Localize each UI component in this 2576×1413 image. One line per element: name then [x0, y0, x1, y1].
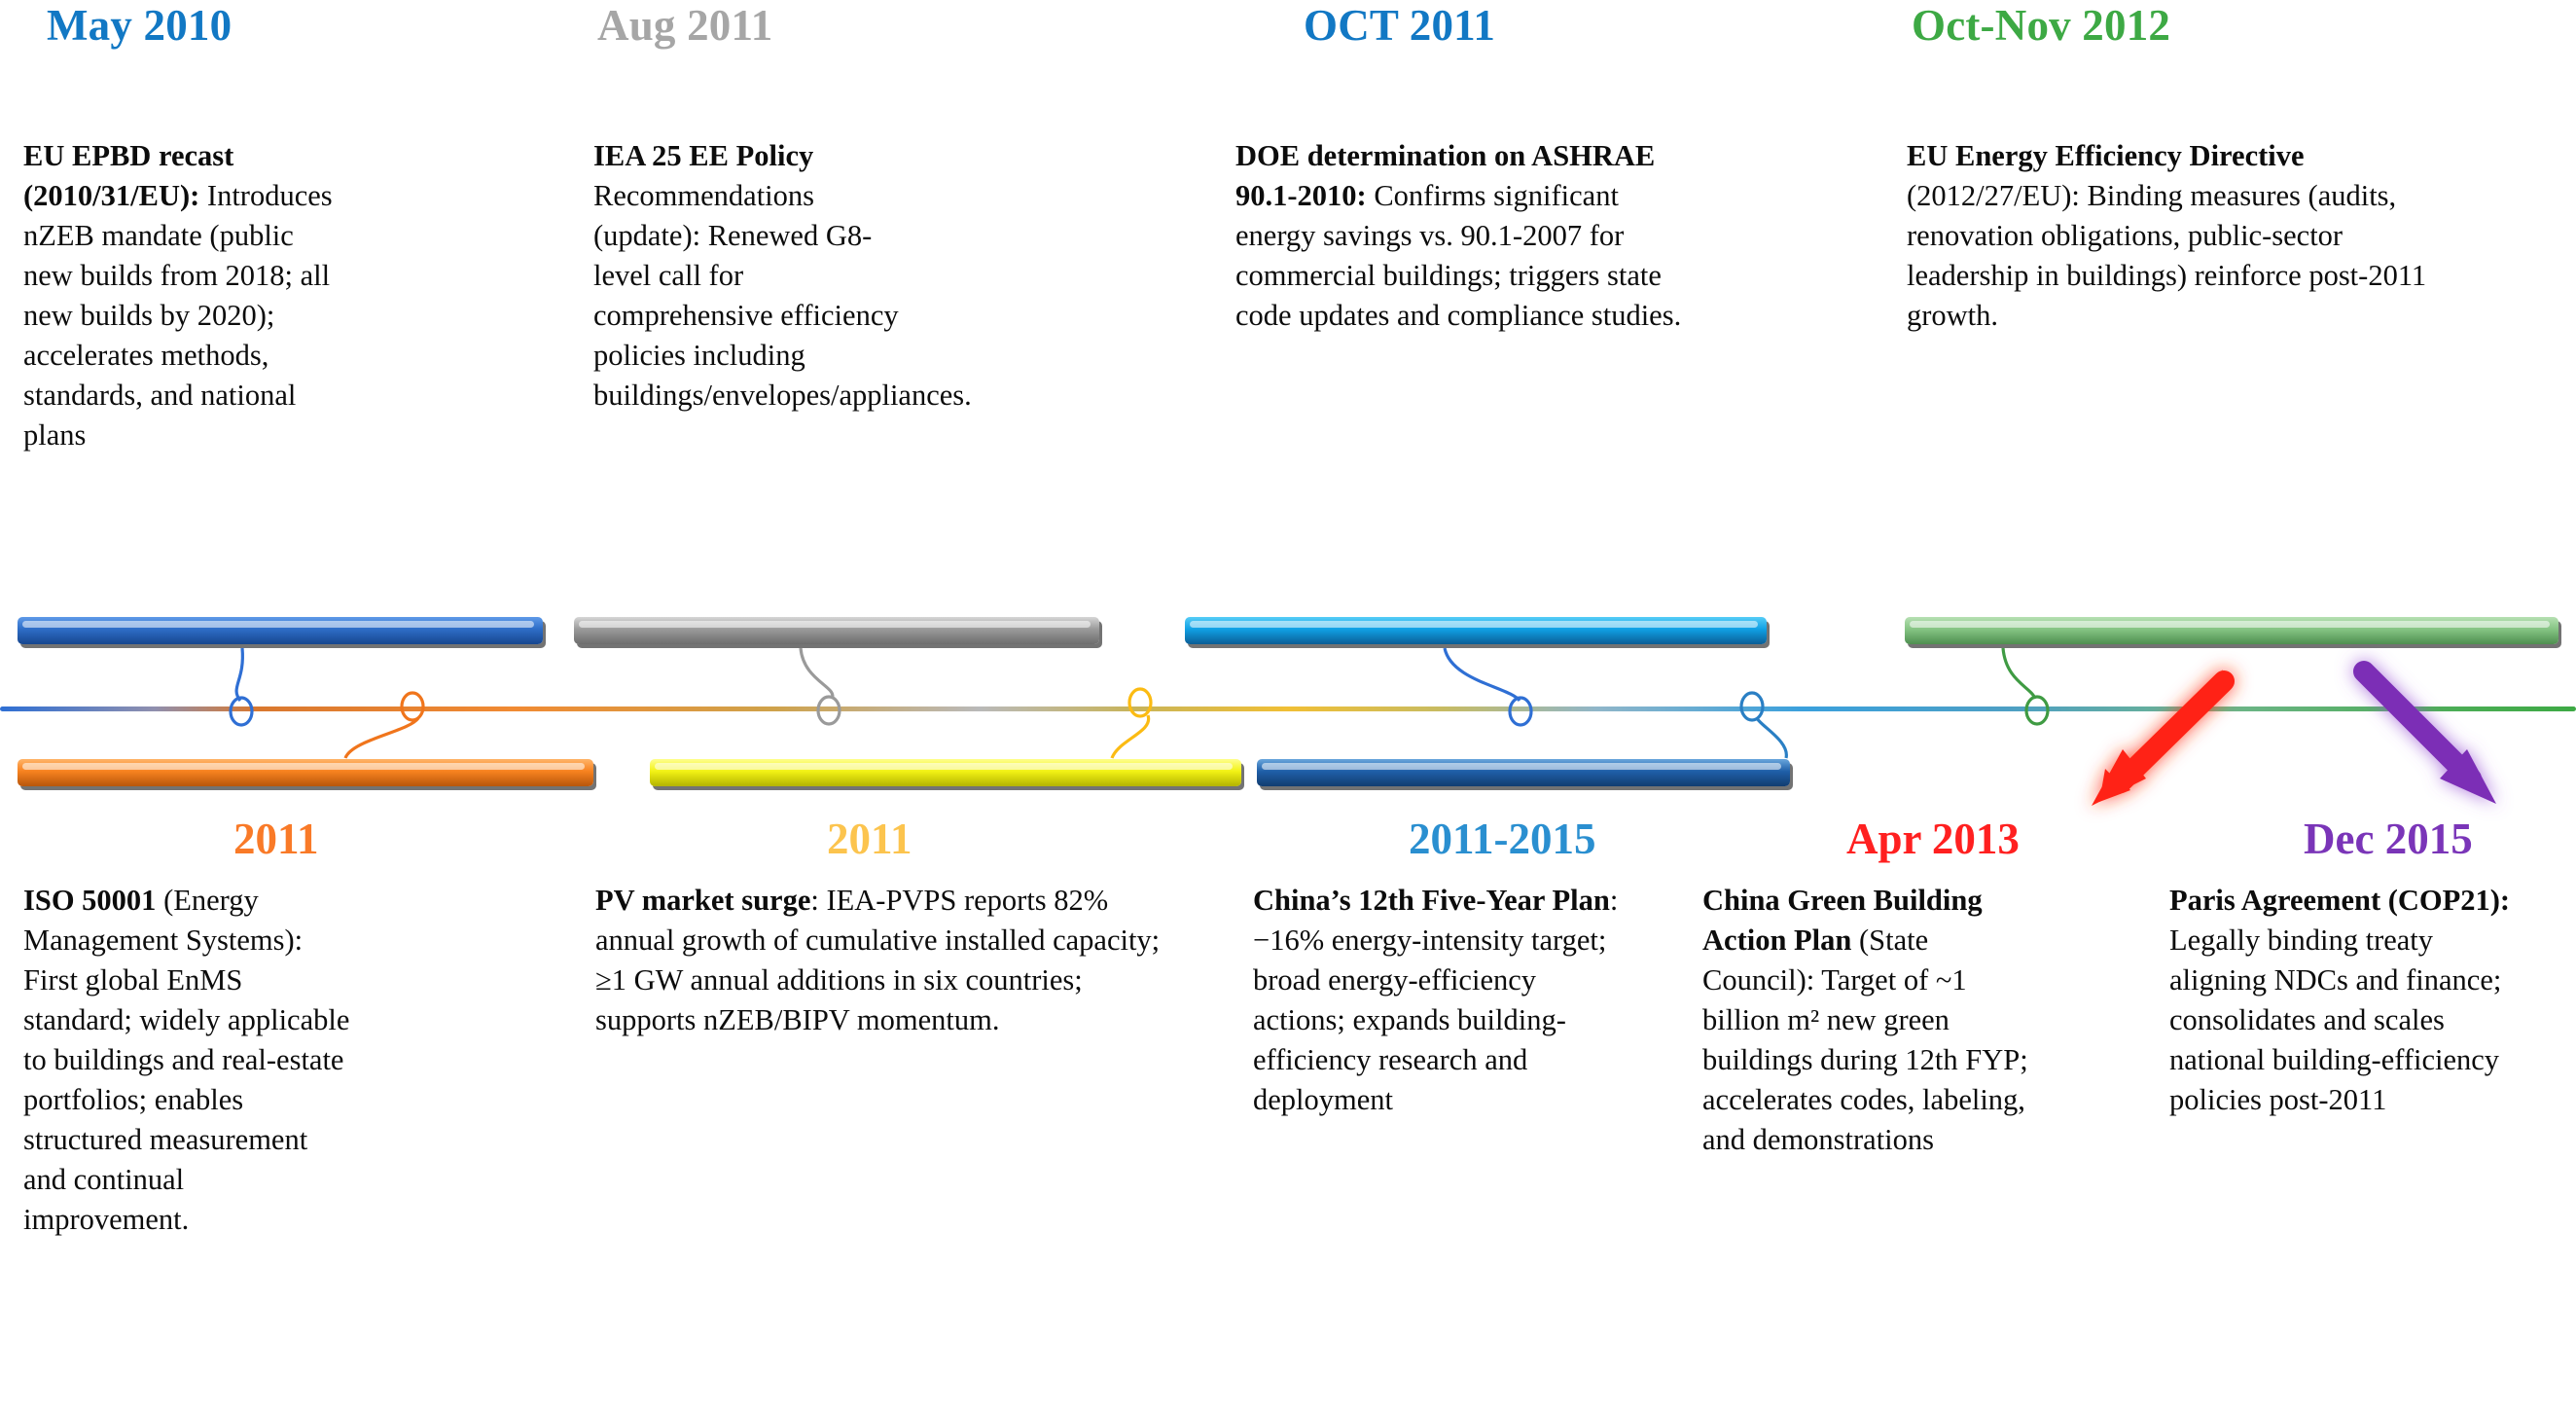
- date-label-2011-2015: 2011-2015: [1409, 817, 1596, 861]
- bar-highlight: [579, 621, 1091, 628]
- milestone-bar-aug-2011[interactable]: [574, 617, 1099, 644]
- description-body: (Energy Management Systems): First globa…: [23, 884, 349, 1236]
- description-title: Paris Agreement (COP21):: [2169, 884, 2510, 917]
- red-arrow: [2092, 670, 2224, 806]
- bar-highlight: [22, 763, 585, 770]
- description-eu-epbd-recast: EU EPBD recast (2010/31/EU): Introduces …: [23, 136, 337, 455]
- description-title: PV market surge: [595, 884, 810, 917]
- connector-may-2010: [231, 648, 252, 725]
- bar-highlight: [22, 621, 534, 628]
- connector-oct-nov-2012: [2003, 648, 2048, 724]
- description-eu-energy-efficiency-directive: EU Energy Efficiency Directive (2012/27/…: [1907, 136, 2451, 336]
- connector-oct-2011: [1445, 648, 1531, 725]
- description-body: : −16% energy-intensity target; broad en…: [1253, 884, 1618, 1116]
- date-label-2011-iso: 2011: [233, 817, 319, 861]
- description-paris-agreement: Paris Agreement (COP21): Legally binding…: [2169, 881, 2527, 1120]
- date-label-apr-2013: Apr 2013: [1846, 817, 2020, 861]
- description-body: Recommendations (update): Renewed G8-lev…: [593, 179, 972, 412]
- milestone-bar-oct-2011[interactable]: [1185, 617, 1767, 644]
- date-label-dec-2015: Dec 2015: [2304, 817, 2473, 861]
- description-pv-market-surge: PV market surge: IEA-PVPS reports 82% an…: [595, 881, 1163, 1040]
- description-title: China’s 12th Five-Year Plan: [1253, 884, 1610, 917]
- milestone-bar-iso-50001[interactable]: [18, 759, 593, 786]
- description-body: Legally binding treaty aligning NDCs and…: [2169, 924, 2501, 1116]
- date-heading-may-2010: May 2010: [47, 4, 232, 48]
- milestone-bar-pv-market-surge[interactable]: [650, 759, 1241, 786]
- description-title: EU Energy Efficiency Directive: [1907, 139, 2305, 172]
- description-china-green-building-action-plan: China Green Building Action Plan (State …: [1702, 881, 2045, 1160]
- description-body: Introduces nZEB mandate (public new buil…: [23, 179, 333, 452]
- description-doe-ashrae: DOE determination on ASHRAE 90.1-2010: C…: [1235, 136, 1685, 336]
- date-heading-oct-2011: OCT 2011: [1304, 4, 1495, 48]
- connector-china-12th-fyp: [1741, 693, 1786, 758]
- timeline-axis: [0, 706, 2576, 711]
- description-china-12th-fyp: China’s 12th Five-Year Plan: −16% energy…: [1253, 881, 1621, 1120]
- milestone-bar-china-12th-fyp[interactable]: [1257, 759, 1790, 786]
- bar-highlight: [1190, 621, 1758, 628]
- milestone-bar-may-2010[interactable]: [18, 617, 543, 644]
- bar-highlight: [1262, 763, 1781, 770]
- bar-highlight: [655, 763, 1233, 770]
- milestone-bar-oct-nov-2012[interactable]: [1905, 617, 2558, 644]
- bar-highlight: [1910, 621, 2550, 628]
- description-iea-25-ee-policy: IEA 25 EE Policy Recommendations (update…: [593, 136, 907, 416]
- connector-aug-2011: [801, 648, 840, 724]
- timeline-diagram: May 2010 Aug 2011 OCT 2011 Oct-Nov 2012 …: [0, 0, 2576, 1413]
- date-heading-oct-nov-2012: Oct-Nov 2012: [1912, 4, 2170, 48]
- description-body: (State Council): Target of ~1 billion m²…: [1702, 924, 2028, 1156]
- connector-pv-market-surge: [1112, 689, 1151, 758]
- description-body: (2012/27/EU): Binding measures (audits, …: [1907, 179, 2426, 332]
- description-title: China Green Building Action Plan: [1702, 884, 1983, 957]
- description-iso-50001: ISO 50001 (Energy Management Systems): F…: [23, 881, 352, 1240]
- date-heading-aug-2011: Aug 2011: [597, 4, 772, 48]
- connector-iso-50001: [345, 693, 423, 758]
- description-title: ISO 50001: [23, 884, 156, 917]
- date-label-2011-pv: 2011: [827, 817, 912, 861]
- purple-arrow: [2364, 671, 2496, 804]
- description-title: IEA 25 EE Policy: [593, 139, 813, 172]
